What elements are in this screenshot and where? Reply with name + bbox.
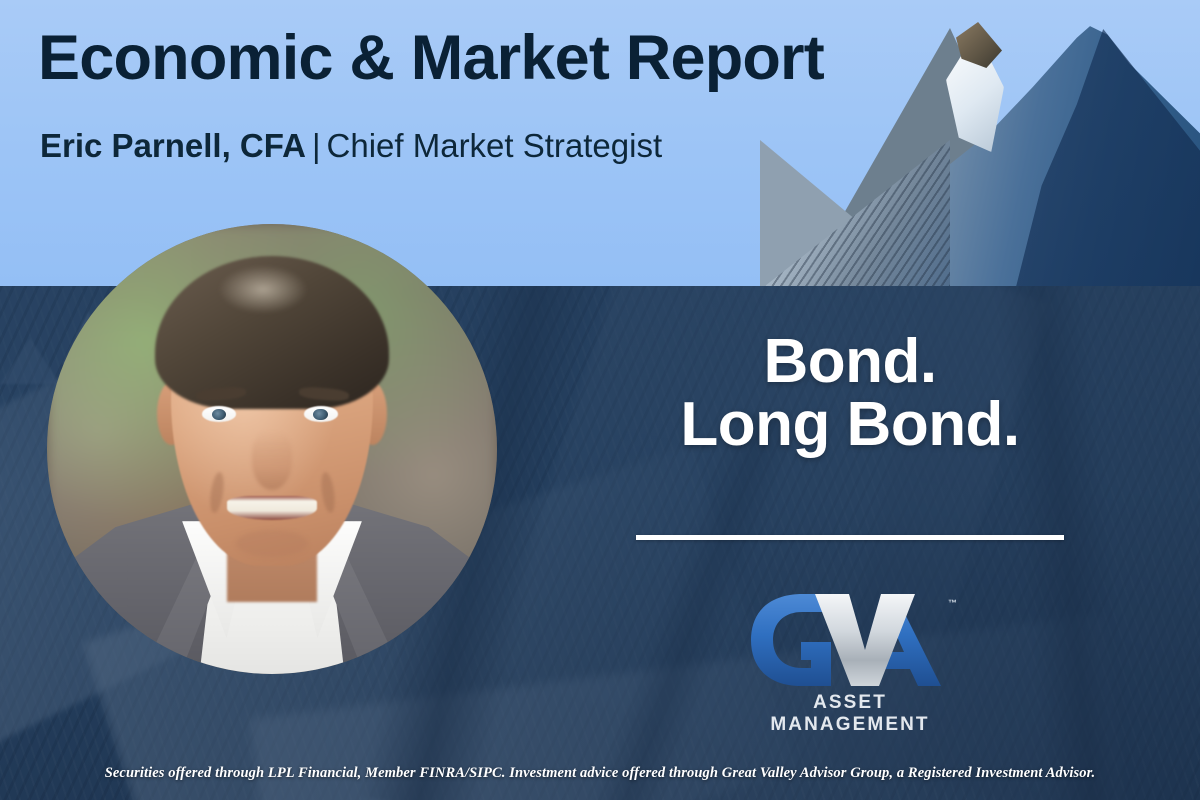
gva-logo: ™ ASSET MANAGEMENT xyxy=(745,592,955,732)
author-role: Chief Market Strategist xyxy=(327,127,663,164)
headline: Bond. Long Bond. xyxy=(634,330,1066,456)
gva-logo-icon xyxy=(745,592,955,688)
trademark-icon: ™ xyxy=(948,598,957,608)
headline-divider xyxy=(636,535,1064,540)
report-banner: Economic & Market Report Eric Parnell, C… xyxy=(0,0,1200,800)
avatar xyxy=(47,224,497,674)
logo-subtitle: ASSET MANAGEMENT xyxy=(745,692,955,736)
byline-separator: | xyxy=(306,127,327,164)
page-title: Economic & Market Report xyxy=(38,27,824,90)
headline-line-1: Bond. xyxy=(763,327,936,396)
author-name: Eric Parnell, CFA xyxy=(40,127,306,164)
mountain-peak-icon xyxy=(760,0,1200,290)
byline: Eric Parnell, CFA|Chief Market Strategis… xyxy=(40,129,662,162)
disclaimer-text: Securities offered through LPL Financial… xyxy=(0,765,1200,782)
headline-line-2: Long Bond. xyxy=(634,393,1066,456)
